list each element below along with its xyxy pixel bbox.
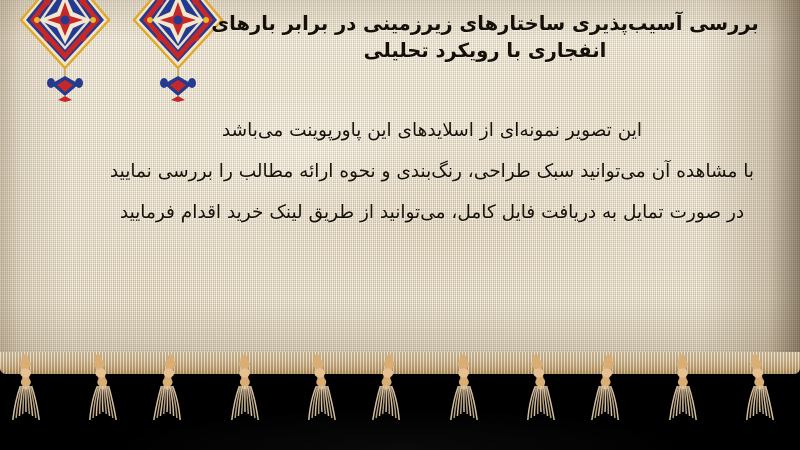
body-line-3: در صورت تمایل به دریافت فایل کامل، می‌تو… <box>100 192 764 233</box>
title-line-2: انفجاری با رویکرد تحلیلی <box>205 37 765 64</box>
title-line-1: بررسی آسیب‌پذیری ساختارهای زیرزمینی در ب… <box>205 10 765 37</box>
carpet-pendant-medallion-left-icon <box>17 0 113 102</box>
slide-body-text: این تصویر نمونه‌ای از اسلایدهای این پاور… <box>100 110 764 233</box>
body-line-1: این تصویر نمونه‌ای از اسلایدهای این پاور… <box>100 110 764 151</box>
body-line-2: با مشاهده آن می‌توانید سبک طراحی، رنگ‌بن… <box>100 151 764 192</box>
slide-title: بررسی آسیب‌پذیری ساختارهای زیرزمینی در ب… <box>205 10 765 64</box>
slide-canvas: بررسی آسیب‌پذیری ساختارهای زیرزمینی در ب… <box>0 0 800 450</box>
carpet-fringe-tassels-icon <box>0 352 800 450</box>
